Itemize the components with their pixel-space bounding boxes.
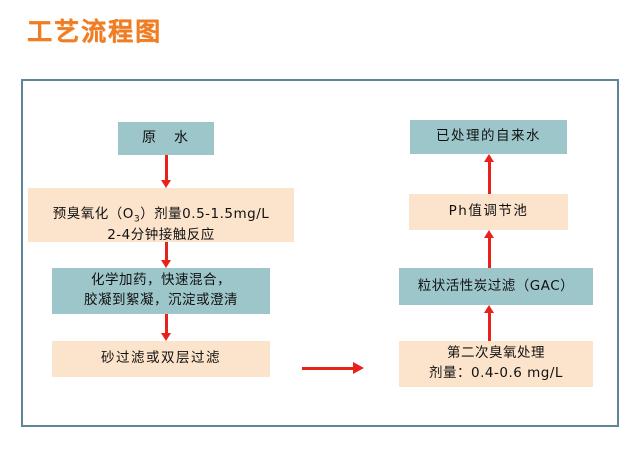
node-pre-ozonation-line1: 预臭氧化（O3）剂量0.5-1.5mg/L: [53, 185, 270, 226]
arrow-shaft: [488, 162, 491, 194]
node-treated-water[interactable]: 已处理的自来水: [410, 120, 567, 154]
arrow-head-down-icon: [161, 333, 171, 341]
node-sand-filtration[interactable]: 砂过滤或双层过滤: [52, 341, 270, 377]
diagram-frame: 原 水 预臭氧化（O3）剂量0.5-1.5mg/L 2-4分钟接触反应 化学加药…: [21, 79, 619, 427]
arrow-shaft: [302, 367, 354, 370]
arrow-head-right-icon: [353, 362, 364, 374]
arrow-shaft: [165, 155, 168, 180]
arrow-head-down-icon: [161, 260, 171, 268]
node-gac-filtration[interactable]: 粒状活性炭过滤（GAC）: [399, 268, 593, 305]
arrow-shaft: [488, 238, 491, 268]
node-coagulation[interactable]: 化学加药，快速混合， 胶凝到絮凝，沉淀或澄清: [52, 268, 270, 314]
arrow-shaft: [488, 313, 491, 341]
arrow-head-up-icon: [484, 230, 494, 238]
diagram-page: 工艺流程图 原 水 预臭氧化（O3）剂量0.5-1.5mg/L 2-4分钟接触反…: [0, 0, 640, 451]
connector-raw-to-preozone: [154, 155, 178, 188]
arrow-shaft: [165, 242, 168, 260]
node-pre-ozonation[interactable]: 预臭氧化（O3）剂量0.5-1.5mg/L 2-4分钟接触反应: [28, 188, 294, 242]
connector-preozone-to-coag: [154, 242, 178, 268]
connector-sand-to-ozone2: [302, 360, 364, 376]
connector-ph-to-treated: [477, 154, 501, 194]
arrow-head-up-icon: [484, 305, 494, 313]
node-second-ozonation[interactable]: 第二次臭氧处理 剂量：0.4-0.6 mg/L: [399, 341, 593, 387]
page-title: 工艺流程图: [27, 12, 162, 48]
node-ph-adjustment[interactable]: Ph值调节池: [409, 194, 568, 230]
connector-ozone2-to-gac: [477, 305, 501, 341]
connector-gac-to-ph: [477, 230, 501, 268]
arrow-shaft: [165, 314, 168, 333]
node-raw-water[interactable]: 原 水: [118, 122, 214, 155]
connector-coag-to-sand: [154, 314, 178, 341]
arrow-head-up-icon: [484, 154, 494, 162]
